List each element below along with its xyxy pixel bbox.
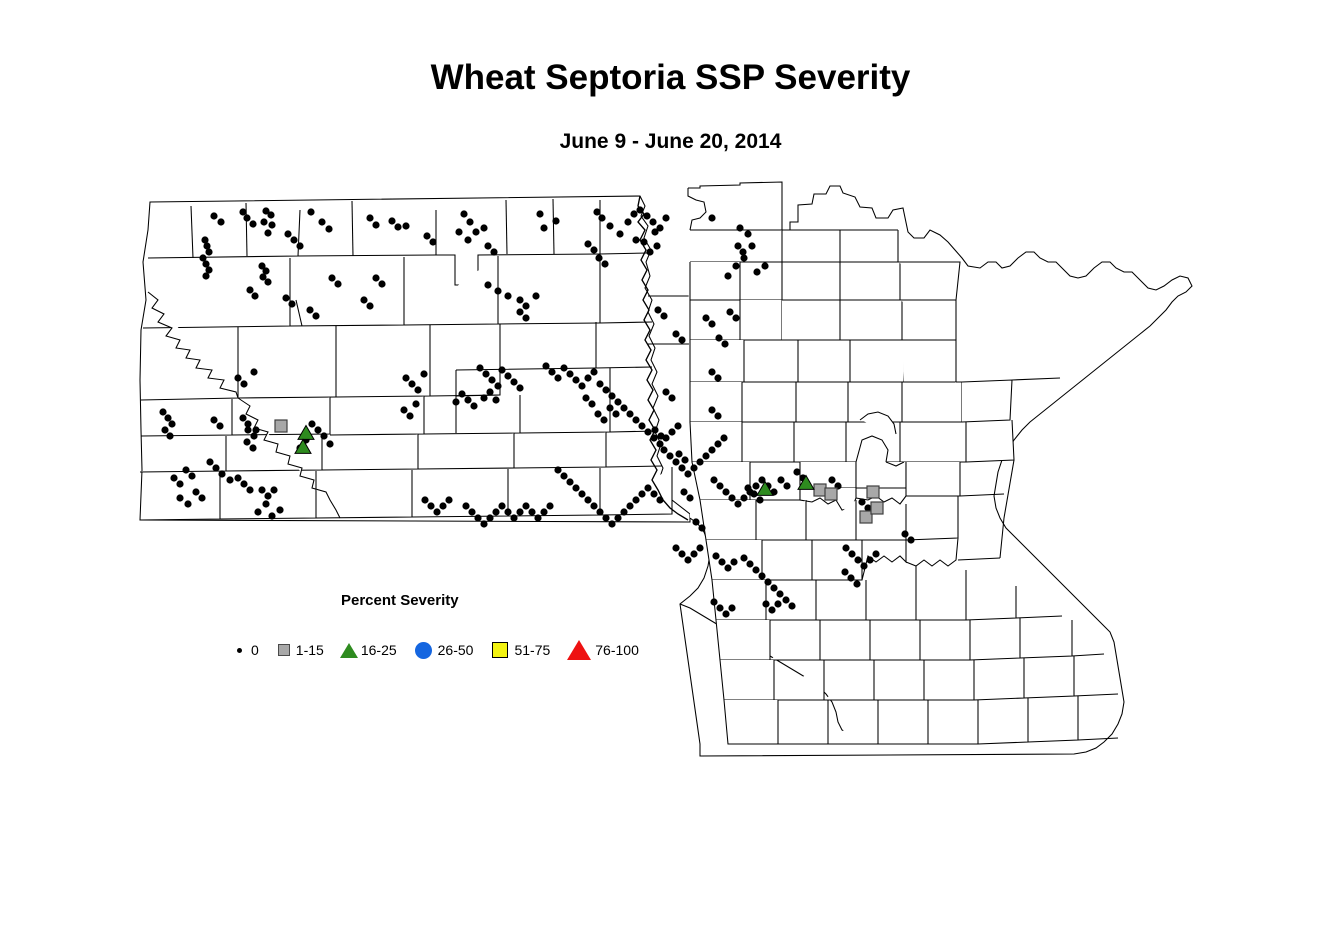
point-severity-0 bbox=[657, 432, 664, 439]
point-severity-0 bbox=[284, 230, 291, 237]
point-severity-0 bbox=[188, 472, 195, 479]
point-severity-0 bbox=[226, 476, 233, 483]
point-severity-0 bbox=[254, 508, 261, 515]
point-severity-0 bbox=[842, 544, 849, 551]
point-severity-0 bbox=[210, 212, 217, 219]
point-severity-0 bbox=[715, 334, 722, 341]
point-severity-0 bbox=[848, 550, 855, 557]
point-severity-0 bbox=[582, 394, 589, 401]
point-severity-1-15 bbox=[867, 486, 879, 498]
point-severity-0 bbox=[264, 229, 271, 236]
point-severity-0 bbox=[540, 508, 547, 515]
point-severity-0 bbox=[498, 502, 505, 509]
point-severity-0 bbox=[708, 446, 715, 453]
point-severity-0 bbox=[712, 552, 719, 559]
point-severity-0 bbox=[590, 368, 597, 375]
point-severity-0 bbox=[421, 496, 428, 503]
point-severity-0 bbox=[510, 378, 517, 385]
point-severity-1-15 bbox=[860, 511, 872, 523]
point-severity-0 bbox=[566, 478, 573, 485]
point-severity-0 bbox=[590, 502, 597, 509]
point-severity-0 bbox=[216, 422, 223, 429]
point-severity-0 bbox=[606, 222, 613, 229]
point-severity-0 bbox=[596, 508, 603, 515]
map-figure: Wheat Septoria SSP Severity June 9 - Jun… bbox=[0, 0, 1341, 926]
point-severity-0 bbox=[490, 248, 497, 255]
point-severity-0 bbox=[314, 426, 321, 433]
point-severity-0 bbox=[626, 410, 633, 417]
point-severity-0 bbox=[262, 500, 269, 507]
point-severity-0 bbox=[678, 550, 685, 557]
point-severity-0 bbox=[616, 230, 623, 237]
point-severity-0 bbox=[681, 456, 688, 463]
point-severity-0 bbox=[748, 242, 755, 249]
point-severity-0 bbox=[168, 420, 175, 427]
point-severity-0 bbox=[464, 236, 471, 243]
point-severity-0 bbox=[484, 242, 491, 249]
legend-item-76-100: 76-100 bbox=[564, 640, 639, 660]
point-severity-0 bbox=[716, 482, 723, 489]
point-severity-1-15 bbox=[825, 488, 837, 500]
point-severity-0 bbox=[516, 384, 523, 391]
point-severity-0 bbox=[482, 370, 489, 377]
green-triangle-icon bbox=[338, 643, 360, 658]
point-severity-0 bbox=[752, 482, 759, 489]
point-severity-0 bbox=[668, 394, 675, 401]
point-severity-1-15 bbox=[275, 420, 287, 432]
point-severity-0 bbox=[554, 374, 561, 381]
point-severity-0 bbox=[249, 444, 256, 451]
point-severity-0 bbox=[572, 484, 579, 491]
point-severity-0 bbox=[708, 320, 715, 327]
point-severity-0 bbox=[716, 604, 723, 611]
point-severity-0 bbox=[684, 470, 691, 477]
legend-item-1-15: 1-15 bbox=[273, 642, 324, 658]
point-severity-0 bbox=[722, 488, 729, 495]
point-severity-0 bbox=[782, 596, 789, 603]
point-severity-0 bbox=[470, 402, 477, 409]
point-severity-0 bbox=[252, 426, 259, 433]
point-severity-0 bbox=[243, 214, 250, 221]
point-severity-0 bbox=[439, 502, 446, 509]
point-severity-0 bbox=[606, 404, 613, 411]
point-severity-0 bbox=[686, 494, 693, 501]
point-severity-0 bbox=[601, 260, 608, 267]
point-severity-0 bbox=[662, 214, 669, 221]
point-severity-0 bbox=[650, 490, 657, 497]
point-severity-0 bbox=[696, 458, 703, 465]
point-severity-0 bbox=[267, 211, 274, 218]
point-severity-0 bbox=[654, 306, 661, 313]
point-severity-0 bbox=[476, 364, 483, 371]
point-severity-0 bbox=[492, 396, 499, 403]
point-severity-0 bbox=[402, 374, 409, 381]
point-severity-0 bbox=[651, 228, 658, 235]
point-severity-0 bbox=[644, 428, 651, 435]
point-severity-0 bbox=[464, 396, 471, 403]
point-severity-0 bbox=[318, 218, 325, 225]
point-severity-0 bbox=[164, 414, 171, 421]
point-severity-0 bbox=[730, 558, 737, 565]
point-severity-0 bbox=[630, 210, 637, 217]
point-severity-0 bbox=[504, 292, 511, 299]
point-severity-0 bbox=[320, 432, 327, 439]
point-severity-0 bbox=[696, 544, 703, 551]
point-severity-0 bbox=[239, 208, 246, 215]
yellow-square-icon bbox=[487, 642, 513, 658]
point-severity-0 bbox=[638, 490, 645, 497]
point-severity-0 bbox=[288, 300, 295, 307]
point-severity-0 bbox=[486, 388, 493, 395]
point-severity-0 bbox=[307, 208, 314, 215]
point-severity-0 bbox=[239, 414, 246, 421]
point-severity-0 bbox=[249, 220, 256, 227]
point-severity-0 bbox=[624, 218, 631, 225]
point-severity-0 bbox=[854, 556, 861, 563]
legend: 0 1-15 16-25 26-50 51-75 76-100 bbox=[228, 637, 653, 663]
point-severity-0 bbox=[788, 602, 795, 609]
point-severity-0 bbox=[710, 476, 717, 483]
point-severity-0 bbox=[246, 486, 253, 493]
point-severity-0 bbox=[234, 474, 241, 481]
point-severity-0 bbox=[462, 502, 469, 509]
point-severity-0 bbox=[192, 488, 199, 495]
point-severity-0 bbox=[540, 224, 547, 231]
point-severity-0 bbox=[590, 246, 597, 253]
point-severity-0 bbox=[504, 372, 511, 379]
point-severity-0 bbox=[734, 242, 741, 249]
point-severity-0 bbox=[250, 368, 257, 375]
point-severity-0 bbox=[572, 376, 579, 383]
point-severity-0 bbox=[458, 390, 465, 397]
point-severity-0 bbox=[290, 236, 297, 243]
point-severity-0 bbox=[643, 212, 650, 219]
point-severity-0 bbox=[718, 558, 725, 565]
point-severity-0 bbox=[660, 446, 667, 453]
point-severity-0 bbox=[504, 508, 511, 515]
point-severity-0 bbox=[480, 394, 487, 401]
point-severity-0 bbox=[240, 480, 247, 487]
point-severity-0 bbox=[672, 544, 679, 551]
point-severity-0 bbox=[702, 314, 709, 321]
point-severity-0 bbox=[166, 432, 173, 439]
point-severity-0 bbox=[522, 314, 529, 321]
point-severity-0 bbox=[783, 482, 790, 489]
point-severity-0 bbox=[584, 496, 591, 503]
point-severity-0 bbox=[776, 590, 783, 597]
point-severity-0 bbox=[480, 520, 487, 527]
legend-item-51-75: 51-75 bbox=[487, 642, 550, 658]
point-severity-0 bbox=[752, 566, 759, 573]
point-severity-0 bbox=[698, 524, 705, 531]
point-severity-0 bbox=[620, 508, 627, 515]
point-severity-0 bbox=[761, 262, 768, 269]
point-severity-0 bbox=[412, 400, 419, 407]
point-severity-0 bbox=[777, 476, 784, 483]
point-severity-0 bbox=[714, 412, 721, 419]
point-severity-0 bbox=[740, 254, 747, 261]
point-severity-0 bbox=[268, 221, 275, 228]
small-black-dot-icon bbox=[228, 648, 250, 653]
point-severity-0 bbox=[433, 508, 440, 515]
point-severity-0 bbox=[202, 272, 209, 279]
point-severity-0 bbox=[306, 306, 313, 313]
point-severity-0 bbox=[466, 218, 473, 225]
point-severity-0 bbox=[708, 368, 715, 375]
point-severity-0 bbox=[649, 218, 656, 225]
point-severity-0 bbox=[726, 308, 733, 315]
point-severity-0 bbox=[584, 240, 591, 247]
point-severity-0 bbox=[853, 580, 860, 587]
point-severity-0 bbox=[901, 530, 908, 537]
point-severity-0 bbox=[308, 420, 315, 427]
point-severity-0 bbox=[608, 392, 615, 399]
point-severity-0 bbox=[528, 508, 535, 515]
point-severity-0 bbox=[770, 584, 777, 591]
point-severity-0 bbox=[402, 222, 409, 229]
point-severity-0 bbox=[632, 236, 639, 243]
north-dakota-counties bbox=[140, 196, 740, 522]
point-severity-0 bbox=[554, 466, 561, 473]
point-severity-0 bbox=[414, 386, 421, 393]
point-severity-0 bbox=[560, 364, 567, 371]
point-severity-0 bbox=[460, 210, 467, 217]
map-canvas bbox=[0, 0, 1341, 926]
point-severity-0 bbox=[653, 242, 660, 249]
point-severity-0 bbox=[484, 281, 491, 288]
point-severity-0 bbox=[480, 224, 487, 231]
point-severity-0 bbox=[566, 370, 573, 377]
point-severity-0 bbox=[578, 382, 585, 389]
point-severity-0 bbox=[740, 494, 747, 501]
point-severity-0 bbox=[646, 248, 653, 255]
point-severity-0 bbox=[710, 598, 717, 605]
point-severity-0 bbox=[764, 578, 771, 585]
point-severity-0 bbox=[612, 410, 619, 417]
point-severity-0 bbox=[486, 514, 493, 521]
point-severity-0 bbox=[260, 218, 267, 225]
point-severity-0 bbox=[732, 314, 739, 321]
legend-label-26-50: 26-50 bbox=[438, 642, 474, 658]
point-severity-0 bbox=[408, 380, 415, 387]
legend-item-0: 0 bbox=[228, 642, 259, 658]
point-severity-0 bbox=[270, 486, 277, 493]
legend-item-26-50: 26-50 bbox=[411, 642, 474, 659]
point-severity-0 bbox=[378, 280, 385, 287]
point-severity-0 bbox=[532, 292, 539, 299]
point-severity-0 bbox=[614, 514, 621, 521]
point-severity-0 bbox=[170, 474, 177, 481]
point-severity-0 bbox=[455, 228, 462, 235]
point-severity-0 bbox=[312, 312, 319, 319]
point-severity-0 bbox=[234, 374, 241, 381]
point-severity-0 bbox=[666, 452, 673, 459]
point-severity-0 bbox=[536, 210, 543, 217]
point-severity-0 bbox=[594, 410, 601, 417]
point-severity-0 bbox=[468, 508, 475, 515]
legend-label-76-100: 76-100 bbox=[595, 642, 639, 658]
point-severity-0 bbox=[722, 610, 729, 617]
point-severity-0 bbox=[768, 606, 775, 613]
point-severity-1-15 bbox=[871, 502, 883, 514]
point-severity-0 bbox=[744, 484, 751, 491]
point-severity-0 bbox=[474, 514, 481, 521]
point-severity-0 bbox=[662, 388, 669, 395]
point-severity-0 bbox=[638, 422, 645, 429]
legend-label-51-75: 51-75 bbox=[514, 642, 550, 658]
point-severity-0 bbox=[828, 476, 835, 483]
point-severity-0 bbox=[372, 221, 379, 228]
point-severity-0 bbox=[651, 426, 658, 433]
point-severity-0 bbox=[584, 374, 591, 381]
legend-label-16-25: 16-25 bbox=[361, 642, 397, 658]
point-severity-0 bbox=[598, 214, 605, 221]
point-severity-0 bbox=[328, 274, 335, 281]
point-severity-0 bbox=[640, 238, 647, 245]
point-severity-0 bbox=[429, 238, 436, 245]
point-severity-0 bbox=[360, 296, 367, 303]
point-severity-0 bbox=[588, 400, 595, 407]
point-severity-0 bbox=[498, 366, 505, 373]
point-severity-0 bbox=[847, 574, 854, 581]
red-triangle-icon bbox=[564, 640, 594, 660]
point-severity-0 bbox=[626, 502, 633, 509]
point-severity-0 bbox=[488, 376, 495, 383]
point-severity-0 bbox=[334, 280, 341, 287]
point-severity-0 bbox=[650, 434, 657, 441]
point-severity-0 bbox=[516, 308, 523, 315]
point-severity-0 bbox=[276, 506, 283, 513]
point-severity-0 bbox=[492, 508, 499, 515]
point-severity-0 bbox=[744, 230, 751, 237]
point-severity-0 bbox=[560, 472, 567, 479]
point-severity-0 bbox=[176, 494, 183, 501]
point-severity-0 bbox=[240, 380, 247, 387]
point-severity-0 bbox=[756, 496, 763, 503]
point-severity-0 bbox=[656, 496, 663, 503]
point-severity-0 bbox=[692, 518, 699, 525]
point-severity-0 bbox=[672, 330, 679, 337]
point-severity-0 bbox=[578, 490, 585, 497]
point-severity-0 bbox=[218, 470, 225, 477]
point-severity-0 bbox=[210, 416, 217, 423]
point-severity-0 bbox=[400, 406, 407, 413]
point-severity-0 bbox=[243, 438, 250, 445]
point-severity-0 bbox=[608, 520, 615, 527]
point-severity-0 bbox=[758, 572, 765, 579]
point-severity-0 bbox=[690, 464, 697, 471]
point-severity-0 bbox=[372, 274, 379, 281]
point-severity-0 bbox=[176, 480, 183, 487]
point-severity-0 bbox=[724, 272, 731, 279]
gray-square-icon bbox=[273, 644, 295, 656]
minnesota-counties bbox=[680, 182, 1192, 756]
point-severity-0 bbox=[184, 500, 191, 507]
point-severity-0 bbox=[388, 217, 395, 224]
point-severity-0 bbox=[522, 502, 529, 509]
point-severity-0 bbox=[552, 217, 559, 224]
legend-item-16-25: 16-25 bbox=[338, 642, 397, 658]
point-severity-0 bbox=[282, 294, 289, 301]
point-severity-0 bbox=[668, 428, 675, 435]
point-severity-0 bbox=[746, 560, 753, 567]
point-severity-0 bbox=[472, 228, 479, 235]
point-severity-0 bbox=[774, 600, 781, 607]
point-severity-0 bbox=[198, 494, 205, 501]
point-severity-0 bbox=[680, 488, 687, 495]
point-severity-0 bbox=[721, 340, 728, 347]
point-severity-0 bbox=[264, 278, 271, 285]
legend-label-1-15: 1-15 bbox=[296, 642, 324, 658]
point-severity-0 bbox=[161, 426, 168, 433]
point-severity-0 bbox=[325, 225, 332, 232]
point-severity-0 bbox=[690, 550, 697, 557]
point-severity-0 bbox=[734, 500, 741, 507]
point-severity-0 bbox=[684, 556, 691, 563]
point-severity-0 bbox=[546, 502, 553, 509]
point-severity-0 bbox=[406, 412, 413, 419]
point-severity-0 bbox=[244, 420, 251, 427]
point-severity-0 bbox=[182, 466, 189, 473]
point-severity-0 bbox=[217, 218, 224, 225]
point-severity-0 bbox=[602, 386, 609, 393]
legend-label-0: 0 bbox=[251, 642, 259, 658]
point-severity-0 bbox=[740, 554, 747, 561]
point-severity-0 bbox=[675, 450, 682, 457]
point-severity-0 bbox=[644, 484, 651, 491]
point-severity-0 bbox=[872, 550, 879, 557]
point-severity-0 bbox=[732, 262, 739, 269]
point-severity-0 bbox=[660, 312, 667, 319]
point-severity-0 bbox=[674, 422, 681, 429]
point-severity-0 bbox=[736, 224, 743, 231]
point-severity-0 bbox=[212, 464, 219, 471]
point-severity-0 bbox=[793, 468, 800, 475]
point-severity-0 bbox=[205, 248, 212, 255]
point-severity-0 bbox=[678, 464, 685, 471]
point-severity-0 bbox=[366, 302, 373, 309]
point-severity-0 bbox=[636, 206, 643, 213]
point-severity-0 bbox=[678, 336, 685, 343]
point-severity-0 bbox=[907, 536, 914, 543]
point-severity-0 bbox=[728, 604, 735, 611]
point-severity-0 bbox=[614, 398, 621, 405]
point-severity-0 bbox=[595, 254, 602, 261]
point-severity-0 bbox=[366, 214, 373, 221]
point-severity-0 bbox=[548, 368, 555, 375]
point-severity-0 bbox=[593, 208, 600, 215]
point-severity-0 bbox=[728, 494, 735, 501]
point-severity-0 bbox=[516, 508, 523, 515]
point-severity-0 bbox=[708, 406, 715, 413]
point-severity-0 bbox=[251, 292, 258, 299]
point-severity-0 bbox=[602, 514, 609, 521]
point-severity-0 bbox=[714, 374, 721, 381]
point-severity-0 bbox=[445, 496, 452, 503]
point-severity-0 bbox=[206, 458, 213, 465]
map-svg bbox=[0, 0, 1341, 926]
point-severity-0 bbox=[753, 268, 760, 275]
point-severity-0 bbox=[522, 302, 529, 309]
blue-circle-icon bbox=[411, 642, 437, 659]
point-severity-0 bbox=[264, 492, 271, 499]
point-severity-0 bbox=[258, 486, 265, 493]
point-severity-0 bbox=[326, 440, 333, 447]
point-severity-0 bbox=[427, 502, 434, 509]
point-severity-0 bbox=[494, 382, 501, 389]
point-severity-0 bbox=[510, 514, 517, 521]
point-severity-0 bbox=[542, 362, 549, 369]
